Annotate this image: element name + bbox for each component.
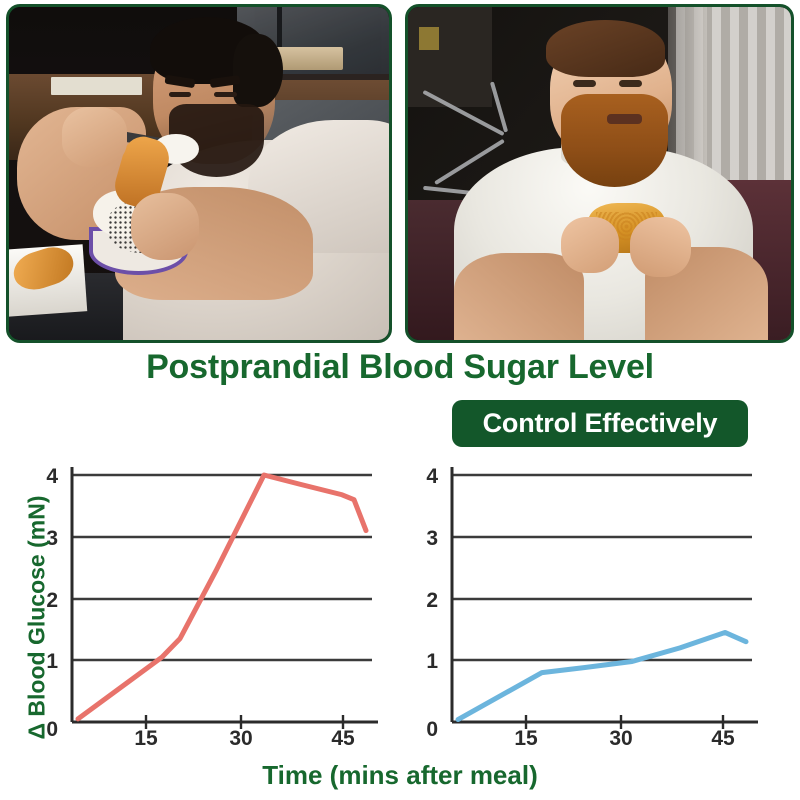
control-effectively-badge: Control Effectively <box>452 400 748 447</box>
x-tick-45: 45 <box>711 727 735 745</box>
person2-hand-left <box>561 217 618 274</box>
person2-arm-left <box>454 253 584 340</box>
chart-left-x-tick-labels: 15 30 45 <box>134 727 355 745</box>
x-axis-title: Time (mins after meal) <box>0 760 800 791</box>
person2-eye-right <box>619 80 642 87</box>
x-tick-45: 45 <box>331 727 355 745</box>
y-tick-3: 3 <box>426 527 438 550</box>
photo-right-content <box>408 7 791 340</box>
page-title: Postprandial Blood Sugar Level <box>0 348 800 387</box>
infographic-page: Postprandial Blood Sugar Level Control E… <box>0 0 800 800</box>
chart-with-control: 4 3 2 1 0 15 30 45 <box>400 455 800 745</box>
person-hand-upper <box>62 107 127 167</box>
y-tick-4: 4 <box>426 465 438 488</box>
person-hand-lower <box>131 193 199 260</box>
person-eye-right <box>214 92 237 97</box>
chart-left-gridlines <box>72 475 372 660</box>
plank-decor <box>51 77 142 95</box>
person2-beard <box>561 94 668 187</box>
x-tick-15: 15 <box>134 727 158 745</box>
bike-frame-bar-4 <box>490 81 508 132</box>
chart-left-svg: 4 3 2 1 0 15 30 45 <box>0 455 400 745</box>
person2-mouth <box>607 114 641 124</box>
bike-frame-bar-1 <box>423 90 505 136</box>
series-line-with-control <box>458 632 746 719</box>
x-tick-30: 30 <box>609 727 632 745</box>
y-tick-1: 1 <box>426 650 438 673</box>
person-hair-side <box>233 34 282 107</box>
photo-man-eating-burger <box>405 4 794 343</box>
yellow-object-decor <box>419 27 438 50</box>
control-effectively-label: Control Effectively <box>483 408 718 439</box>
person2-eye-left <box>573 80 596 87</box>
chart-right-svg: 4 3 2 1 0 15 30 45 <box>400 455 800 745</box>
series-line-without-control <box>78 475 366 719</box>
chart-right-y-tick-labels: 4 3 2 1 0 <box>426 465 438 741</box>
y-axis-title: Δ Blood Glucose (mN) <box>24 478 51 758</box>
y-tick-2: 2 <box>426 589 438 612</box>
person2-hand-right <box>630 217 691 277</box>
person2-hair <box>546 20 665 77</box>
y-tick-0: 0 <box>426 718 438 741</box>
person-eye-left <box>169 92 192 97</box>
chart-right-x-tick-labels: 15 30 45 <box>514 727 735 745</box>
photo-man-eating-dessert <box>6 4 392 343</box>
photo-left-content <box>9 7 389 340</box>
chart-right-gridlines <box>452 475 752 660</box>
chart-without-control: 4 3 2 1 0 15 30 45 <box>0 455 400 745</box>
x-tick-15: 15 <box>514 727 538 745</box>
x-tick-30: 30 <box>229 727 252 745</box>
